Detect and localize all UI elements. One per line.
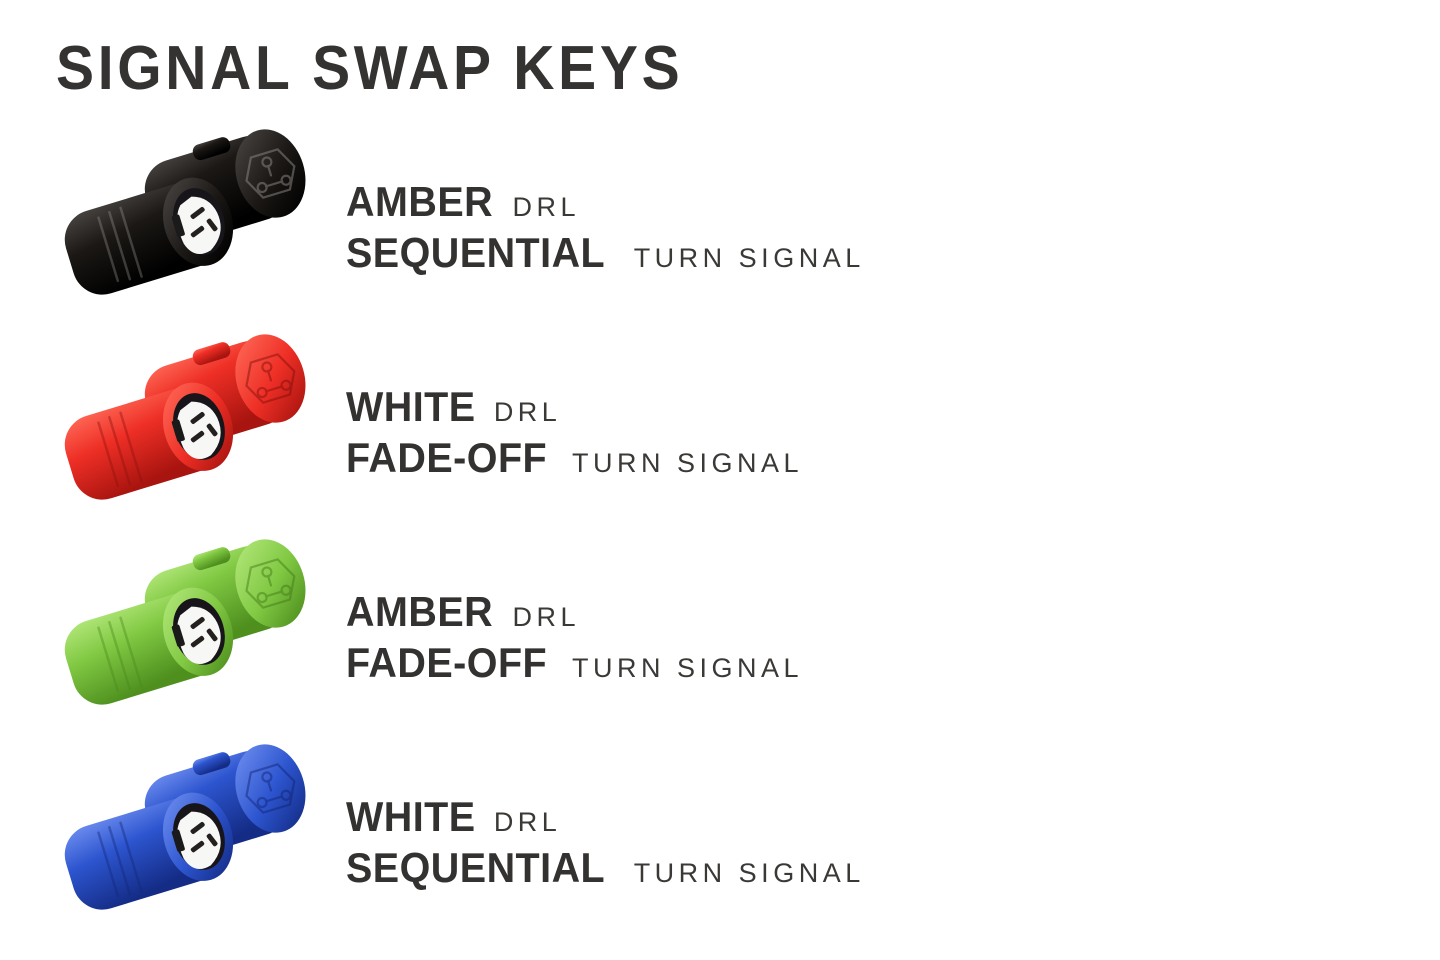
legend-labels: WHITE DRL SEQUENTIAL TURN SIGNAL — [346, 795, 865, 890]
drl-mode-label: AMBER — [346, 590, 493, 635]
legend-labels: WHITE DRL FADE-OFF TURN SIGNAL — [346, 385, 803, 480]
connector-image-red — [52, 333, 332, 533]
signal-mode-label: SEQUENTIAL — [346, 846, 605, 891]
connector-illustration — [52, 538, 332, 738]
signal-suffix-label: TURN SIGNAL — [634, 244, 865, 273]
legend-row: WHITE DRL SEQUENTIAL TURN SIGNAL — [0, 743, 1440, 943]
page-title: SIGNAL SWAP KEYS — [56, 38, 683, 100]
signal-suffix-label: TURN SIGNAL — [634, 859, 865, 888]
drl-mode-label: AMBER — [346, 180, 493, 225]
drl-suffix-label: DRL — [494, 808, 562, 837]
legend-row: WHITE DRL FADE-OFF TURN SIGNAL — [0, 333, 1440, 533]
legend-labels: AMBER DRL SEQUENTIAL TURN SIGNAL — [346, 180, 865, 275]
connector-image-green — [52, 538, 332, 738]
drl-mode-label: WHITE — [346, 385, 476, 430]
legend-row: AMBER DRL SEQUENTIAL TURN SIGNAL — [0, 128, 1440, 328]
drl-suffix-label: DRL — [513, 193, 581, 222]
legend-labels: AMBER DRL FADE-OFF TURN SIGNAL — [346, 590, 803, 685]
connector-image-black — [52, 128, 332, 328]
signal-mode-label: FADE-OFF — [346, 436, 547, 481]
drl-suffix-label: DRL — [494, 398, 562, 427]
infographic-page: SIGNAL SWAP KEYS — [0, 0, 1440, 960]
signal-suffix-label: TURN SIGNAL — [572, 654, 803, 683]
legend-row: AMBER DRL FADE-OFF TURN SIGNAL — [0, 538, 1440, 738]
connector-illustration — [52, 128, 332, 328]
drl-mode-label: WHITE — [346, 795, 476, 840]
connector-image-blue — [52, 743, 332, 943]
drl-suffix-label: DRL — [513, 603, 581, 632]
connector-illustration — [52, 333, 332, 533]
signal-mode-label: FADE-OFF — [346, 641, 547, 686]
connector-illustration — [52, 743, 332, 943]
signal-suffix-label: TURN SIGNAL — [572, 449, 803, 478]
signal-mode-label: SEQUENTIAL — [346, 231, 605, 276]
